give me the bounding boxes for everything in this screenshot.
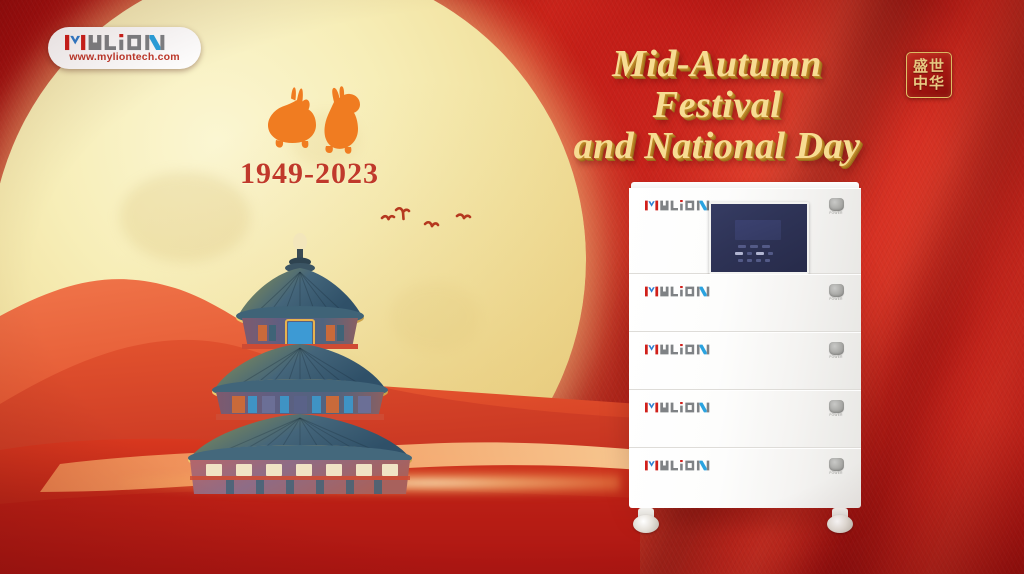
indicator-row bbox=[738, 245, 770, 248]
indicator-led bbox=[738, 245, 746, 248]
power-icon[interactable] bbox=[829, 458, 844, 471]
inverter-display-panel[interactable] bbox=[709, 202, 809, 274]
mylion-logo-icon bbox=[645, 286, 722, 297]
temple-of-heaven-icon bbox=[176, 232, 424, 494]
power-button-group[interactable]: POWER bbox=[825, 400, 847, 417]
caster-wheel bbox=[633, 508, 659, 534]
battery-module[interactable]: POWER bbox=[629, 332, 861, 390]
control-button-row[interactable] bbox=[735, 252, 773, 255]
battery-module[interactable]: POWER bbox=[629, 448, 861, 508]
control-button-row[interactable] bbox=[738, 259, 770, 262]
rabbit-silhouettes-icon bbox=[258, 78, 368, 156]
mylion-logo-badge[interactable]: www.myliontech.com bbox=[48, 27, 201, 69]
headline-line-2: Festival bbox=[512, 85, 922, 126]
year-range-label: 1949-2023 bbox=[240, 157, 379, 191]
power-label: POWER bbox=[829, 212, 843, 215]
caster-wheel bbox=[827, 508, 853, 534]
battery-module[interactable]: POWER bbox=[629, 274, 861, 332]
power-label: POWER bbox=[829, 356, 843, 359]
power-button-group[interactable]: POWER bbox=[825, 198, 847, 215]
power-icon[interactable] bbox=[829, 400, 844, 413]
headline-line-3: and National Day bbox=[512, 126, 922, 167]
control-button[interactable] bbox=[768, 252, 773, 255]
seal-line-2: 中华 bbox=[913, 75, 945, 92]
website-url-label: www.myliontech.com bbox=[69, 52, 180, 63]
control-button[interactable] bbox=[735, 252, 743, 255]
mylion-logo-icon bbox=[65, 34, 184, 51]
indicator-led bbox=[762, 245, 770, 248]
control-button[interactable] bbox=[738, 259, 743, 262]
power-icon[interactable] bbox=[829, 342, 844, 355]
control-button[interactable] bbox=[756, 252, 764, 255]
control-button[interactable] bbox=[765, 259, 770, 262]
control-button[interactable] bbox=[747, 252, 752, 255]
power-label: POWER bbox=[829, 298, 843, 301]
headline-line-1: Mid-Autumn bbox=[512, 44, 922, 85]
mylion-logo-icon bbox=[645, 344, 722, 355]
page-title: Mid-Autumn Festival and National Day bbox=[512, 44, 922, 167]
power-button-group[interactable]: POWER bbox=[825, 458, 847, 475]
inverter-module[interactable]: POWER bbox=[629, 188, 861, 274]
power-button-group[interactable]: POWER bbox=[825, 284, 847, 301]
power-icon[interactable] bbox=[829, 284, 844, 297]
lcd-screen bbox=[735, 220, 781, 240]
control-button[interactable] bbox=[747, 259, 752, 262]
power-label: POWER bbox=[829, 472, 843, 475]
promotional-banner: 1949-2023 bbox=[0, 0, 1024, 574]
power-icon[interactable] bbox=[829, 198, 844, 211]
stacked-home-energy-storage-system[interactable]: POWER POWER bbox=[629, 188, 861, 508]
caster-wheels bbox=[629, 508, 861, 538]
power-label: POWER bbox=[829, 414, 843, 417]
chinese-seal-badge: 盛世 中华 bbox=[906, 52, 952, 98]
battery-module[interactable]: POWER bbox=[629, 390, 861, 448]
caster-roller bbox=[827, 515, 853, 533]
control-button[interactable] bbox=[756, 259, 761, 262]
caster-roller bbox=[633, 515, 659, 533]
indicator-led bbox=[750, 245, 758, 248]
mylion-logo-icon bbox=[645, 460, 722, 471]
seal-line-1: 盛世 bbox=[913, 58, 945, 75]
mylion-logo-icon bbox=[645, 402, 722, 413]
power-button-group[interactable]: POWER bbox=[825, 342, 847, 359]
